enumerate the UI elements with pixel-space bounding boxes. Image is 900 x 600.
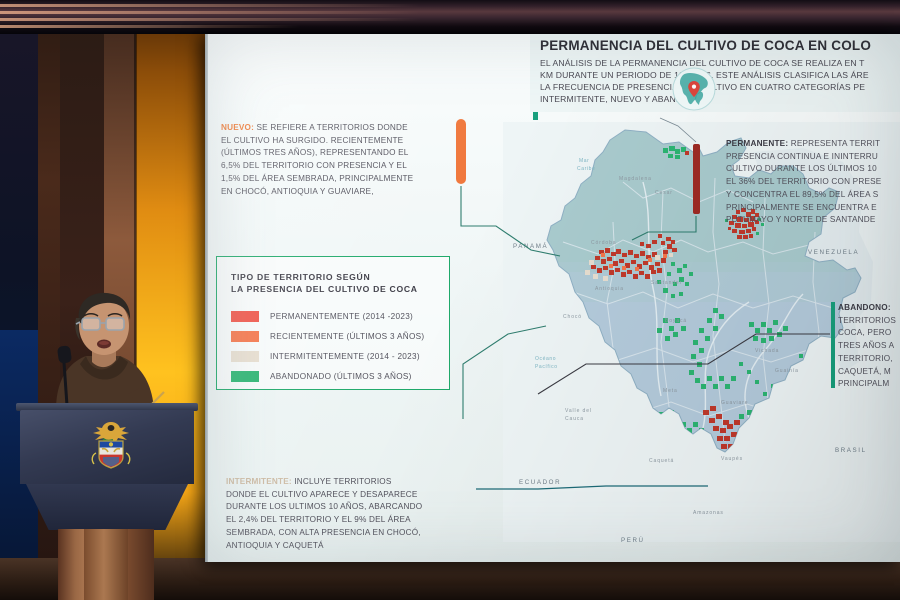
map-label-cesar: Cesar bbox=[655, 190, 673, 196]
map-label-oceano-pacifico: Océano bbox=[535, 356, 556, 362]
intermitente-line: DURANTE LOS ULTIMOS 10 AÑOS, ABARCANDO bbox=[226, 501, 486, 514]
nuevo-line: SE REFIERE A TERRITORIOS DONDE bbox=[254, 123, 408, 132]
legend-item-abandonado: ABANDONADO (ÚLTIMOS 3 AÑOS) bbox=[231, 367, 437, 387]
nuevo-lead-label: NUEVO: bbox=[221, 123, 254, 132]
map-label-amazonas: Amazonas bbox=[693, 510, 724, 516]
permanente-line: PUTUMAYO Y NORTE DE SANTANDE bbox=[726, 214, 900, 227]
ceiling-light-streak bbox=[0, 25, 300, 28]
map-label-boyaca: Boyacá bbox=[665, 318, 687, 324]
legend-title-line1: TIPO DE TERRITORIO SEGÚN bbox=[231, 271, 437, 283]
nuevo-first-line: NUEVO: SE REFIERE A TERRITORIOS DONDE bbox=[221, 122, 476, 135]
ceiling-light-streak bbox=[0, 4, 420, 7]
intermitente-line: DONDE EL CULTIVO APARECE Y DESAPARECE bbox=[226, 489, 486, 502]
legend-item-recientemente: RECIENTEMENTE (ÚLTIMOS 3 AÑOS) bbox=[231, 327, 437, 347]
header-line: EL ANÁLISIS DE LA PERMANENCIA DEL CULTIV… bbox=[540, 57, 898, 69]
legend-swatch-intermitentemente bbox=[231, 351, 259, 362]
header-line: KM DURANTE UN PERIODO DE 10 AÑOS. ESTE A… bbox=[540, 69, 898, 81]
presentation-slide: PERMANENCIA DEL CULTIVO DE COCA EN COLO … bbox=[208, 34, 900, 562]
header-description: EL ANÁLISIS DE LA PERMANENCIA DEL CULTIV… bbox=[540, 57, 898, 106]
map-label-panama: PANAMÁ bbox=[513, 243, 548, 250]
podium bbox=[16, 403, 198, 600]
legend-item-permanentemente: PERMANENTEMENTE (2014 -2023) bbox=[231, 307, 437, 327]
map-label-cordoba: Córdoba bbox=[591, 240, 616, 246]
abandono-line: TRES AÑOS A bbox=[838, 340, 900, 353]
nuevo-line: 1,5% DEL ÁREA SEMBRADA, PRINCIPALMENTE bbox=[221, 173, 476, 186]
colombia-coat-of-arms bbox=[90, 419, 132, 469]
map-label-valle-2: Cauca bbox=[565, 416, 584, 422]
abandono-description-block: ABANDONO: TERRITORIOS COCA, PERO TRES AÑ… bbox=[838, 302, 900, 391]
header-line: INTERMITENTE, NUEVO Y ABANDONO. bbox=[540, 93, 898, 105]
header-line: LA FRECUENCIA DE PRESENCIA DEL CULTIVO E… bbox=[540, 81, 898, 93]
nuevo-line: (ÚLTIMOS TRES AÑOS), REPRESENTANDO EL bbox=[221, 147, 476, 160]
intermitente-first-line: INTERMITENTE: INCLUYE TERRITORIOS bbox=[226, 476, 486, 489]
permanente-line: PRESENCIA CONTINUA E ININTERRU bbox=[726, 151, 900, 164]
abandono-line: COCA, PERO bbox=[838, 327, 900, 340]
permanente-marker-bar bbox=[693, 144, 700, 214]
permanente-line: PRINCIPALMENTE SE ENCUENTRA E bbox=[726, 202, 900, 215]
legend-swatch-permanentemente bbox=[231, 311, 259, 322]
abandono-line: TERRITORIO, bbox=[838, 353, 900, 366]
map-label-mar-caribe: Mar bbox=[579, 158, 589, 164]
intermitente-line: ANTIOQUIA Y CAQUETÁ bbox=[226, 540, 486, 553]
intermitente-description-block: INTERMITENTE: INCLUYE TERRITORIOS DONDE … bbox=[226, 476, 486, 552]
ceiling-light-streak bbox=[0, 18, 420, 21]
permanente-first-line: PERMANENTE: REPRESENTA TERRIT bbox=[726, 138, 900, 151]
studio-ceiling bbox=[0, 0, 900, 34]
legend-title-line2: LA PRESENCIA DEL CULTIVO DE COCA bbox=[231, 283, 437, 295]
legend-item-intermitentemente: INTERMITENTEMENTE (2014 - 2023) bbox=[231, 347, 437, 367]
legend-label-permanentemente: PERMANENTEMENTE (2014 -2023) bbox=[270, 312, 413, 321]
map-label-oceano-pacifico-2: Pacífico bbox=[535, 364, 558, 370]
intermitente-lead-label: INTERMITENTE: bbox=[226, 477, 292, 486]
map-label-mar-caribe-2: Caribe bbox=[577, 166, 595, 172]
abandono-line: PRINCIPALM bbox=[838, 378, 900, 391]
map-label-choco: Chocó bbox=[563, 314, 582, 320]
map-label-valle: Valle del bbox=[565, 408, 592, 414]
map-legend: TIPO DE TERRITORIO SEGÚN LA PRESENCIA DE… bbox=[216, 256, 450, 390]
legend-swatch-abandonado bbox=[231, 371, 259, 382]
nuevo-description-block: NUEVO: SE REFIERE A TERRITORIOS DONDE EL… bbox=[221, 122, 476, 198]
microphone bbox=[57, 345, 72, 364]
screenshot-stage: PERMANENCIA DEL CULTIVO DE COCA EN COLO … bbox=[0, 0, 900, 600]
map-label-meta: Meta bbox=[663, 388, 678, 394]
legend-label-abandonado: ABANDONADO (ÚLTIMOS 3 AÑOS) bbox=[270, 372, 412, 381]
map-label-peru: PERÚ bbox=[621, 537, 645, 542]
map-label-magdalena: Magdalena bbox=[619, 176, 652, 182]
podium-bevel bbox=[26, 484, 188, 530]
permanente-line: REPRESENTA TERRIT bbox=[788, 139, 880, 148]
map-label-caqueta: Caquetá bbox=[649, 458, 674, 464]
map-label-brasil: BRASIL bbox=[835, 447, 867, 454]
legend-items: PERMANENTEMENTE (2014 -2023) RECIENTEMEN… bbox=[231, 307, 437, 387]
permanente-lead-label: PERMANENTE: bbox=[726, 139, 788, 148]
abandono-lead-text: ABANDONO: bbox=[838, 303, 891, 312]
map-label-guaviare: Guaviare bbox=[721, 400, 749, 406]
ceiling-light-streak bbox=[0, 11, 420, 14]
map-label-guainia: Guainía bbox=[775, 368, 799, 374]
nuevo-line: 6,5% DEL TERRITORIO CON PRESENCIA Y EL bbox=[221, 160, 476, 173]
americas-globe-pin-icon bbox=[669, 64, 719, 114]
map-label-vichada: Vichada bbox=[755, 348, 779, 354]
map-label-santander: Santander bbox=[651, 280, 682, 286]
map-label-venezuela: VENEZUELA bbox=[808, 249, 859, 256]
legend-label-intermitentemente: INTERMITENTEMENTE (2014 - 2023) bbox=[270, 352, 420, 361]
intermitente-line: SEMBRADA, CON ALTA PRESENCIA EN CHOCÓ, bbox=[226, 527, 486, 540]
page-title: PERMANENCIA DEL CULTIVO DE COCA EN COLO bbox=[540, 39, 898, 54]
abandono-accent-bar bbox=[831, 302, 835, 388]
nuevo-line: EL CULTIVO HA SURGIDO. RECIENTEMENTE bbox=[221, 135, 476, 148]
podium-wood-column-inner bbox=[84, 529, 128, 600]
abandono-line: TERRITORIOS bbox=[838, 315, 900, 328]
abandono-line: CAQUETÁ, M bbox=[838, 366, 900, 379]
intermitente-line: EL 2,4% DEL TERRITORIO Y EL 9% DEL ÁREA bbox=[226, 514, 486, 527]
map-label-ecuador: ECUADOR bbox=[519, 479, 561, 486]
legend-title: TIPO DE TERRITORIO SEGÚN LA PRESENCIA DE… bbox=[231, 271, 437, 296]
map-label-vaupes: Vaupés bbox=[721, 456, 743, 462]
permanente-line: Y CONCENTRA EL 89,5% DEL ÁREA S bbox=[726, 189, 900, 202]
legend-label-recientemente: RECIENTEMENTE (ÚLTIMOS 3 AÑOS) bbox=[270, 332, 424, 341]
permanente-line: EL 36% DEL TERRITORIO CON PRESE bbox=[726, 176, 900, 189]
nuevo-line: EN CHOCÓ, ANTIOQUIA Y GUAVIARE, bbox=[221, 186, 476, 199]
abandono-lead-label: ABANDONO: bbox=[838, 302, 900, 315]
legend-swatch-recientemente bbox=[231, 331, 259, 342]
projection-screen: PERMANENCIA DEL CULTIVO DE COCA EN COLO … bbox=[205, 34, 900, 562]
intermitente-line: INCLUYE TERRITORIOS bbox=[292, 477, 392, 486]
map-label-antioquia: Antioquia bbox=[595, 286, 624, 292]
permanente-line: CULTIVO DURANTE LOS ÚLTIMOS 10 bbox=[726, 163, 900, 176]
permanente-description-block: PERMANENTE: REPRESENTA TERRIT PRESENCIA … bbox=[726, 138, 900, 227]
